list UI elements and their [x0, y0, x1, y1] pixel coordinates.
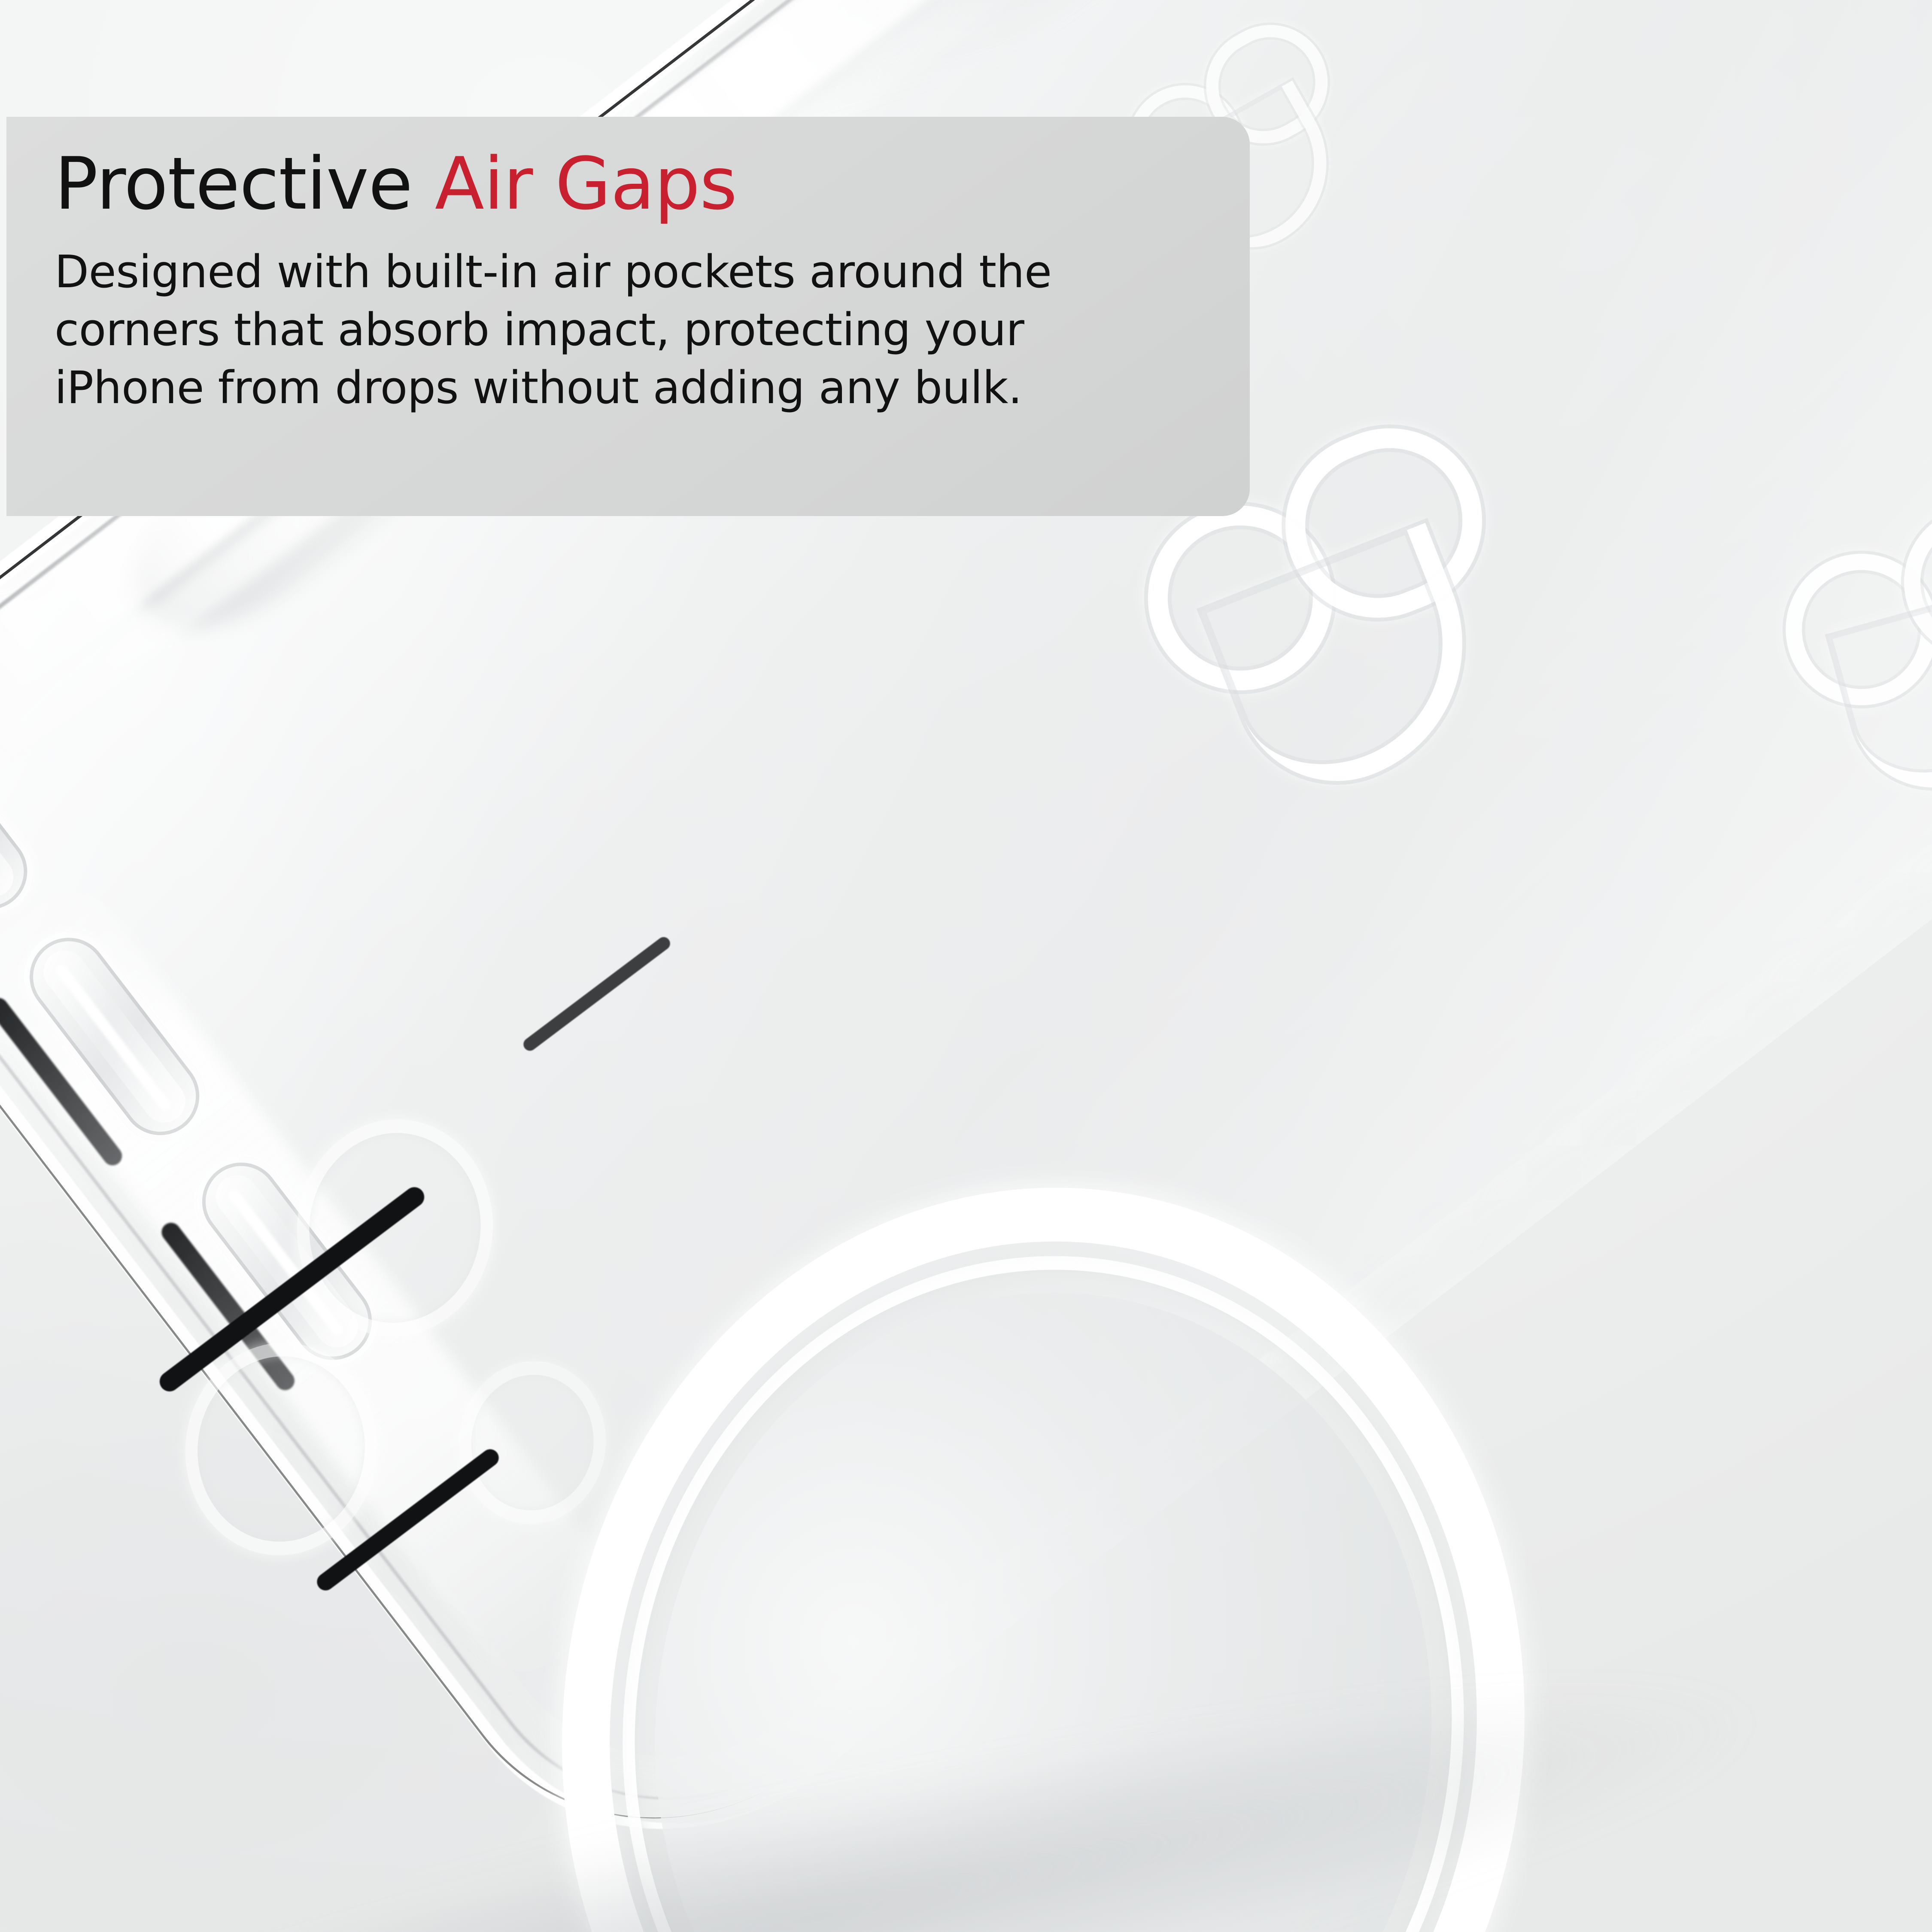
description-line: Designed with built-in air pockets aroun…	[55, 243, 1128, 301]
feature-caption-card: Protective Air Gaps Designed with built-…	[6, 117, 1250, 516]
description-line: corners that absorb impact, protecting y…	[55, 301, 1128, 359]
description-line: iPhone from drops without adding any bul…	[55, 359, 1128, 417]
page-title: Protective Air Gaps	[55, 148, 1250, 220]
feature-description: Designed with built-in air pockets aroun…	[55, 243, 1128, 417]
headline-accent: Air Gaps	[435, 142, 737, 226]
headline-lead: Protective	[55, 142, 435, 226]
product-feature-screenshot: Protective Air Gaps Designed with built-…	[0, 0, 1932, 1932]
